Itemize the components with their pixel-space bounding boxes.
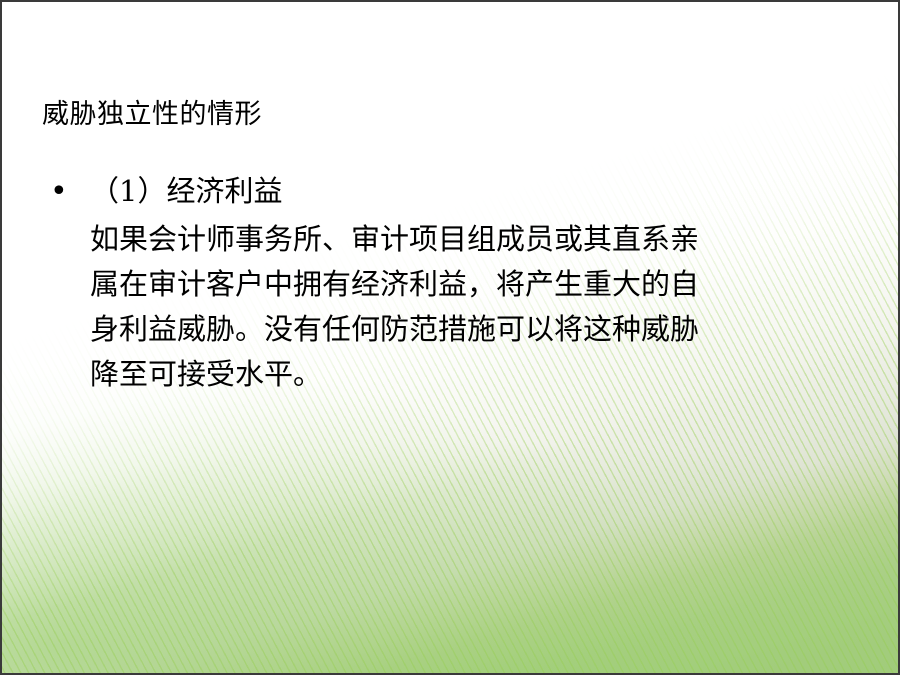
slide-content: 威胁独立性的情形 • （1）经济利益 如果会计师事务所、审计项目组成员或其直系亲… [2,2,898,673]
body-paragraph-line: 降至可接受水平。 [90,352,862,397]
body-paragraph-line: 身利益威胁。没有任何防范措施可以将这种威胁 [90,307,862,352]
bullet-item: • （1）经济利益 [42,168,862,217]
bullet-content-block: • （1）经济利益 如果会计师事务所、审计项目组成员或其直系亲 属在审计客户中拥… [42,168,862,397]
body-paragraph: 如果会计师事务所、审计项目组成员或其直系亲 属在审计客户中拥有经济利益，将产生重… [42,217,862,397]
slide-canvas: 威胁独立性的情形 • （1）经济利益 如果会计师事务所、审计项目组成员或其直系亲… [0,0,900,675]
bullet-item-label: （1）经济利益 [90,168,282,214]
body-paragraph-line: 如果会计师事务所、审计项目组成员或其直系亲 [90,217,862,262]
bullet-dot-icon: • [50,169,68,215]
slide-title: 威胁独立性的情形 [42,98,262,132]
body-paragraph-line: 属在审计客户中拥有经济利益，将产生重大的自 [90,262,862,307]
